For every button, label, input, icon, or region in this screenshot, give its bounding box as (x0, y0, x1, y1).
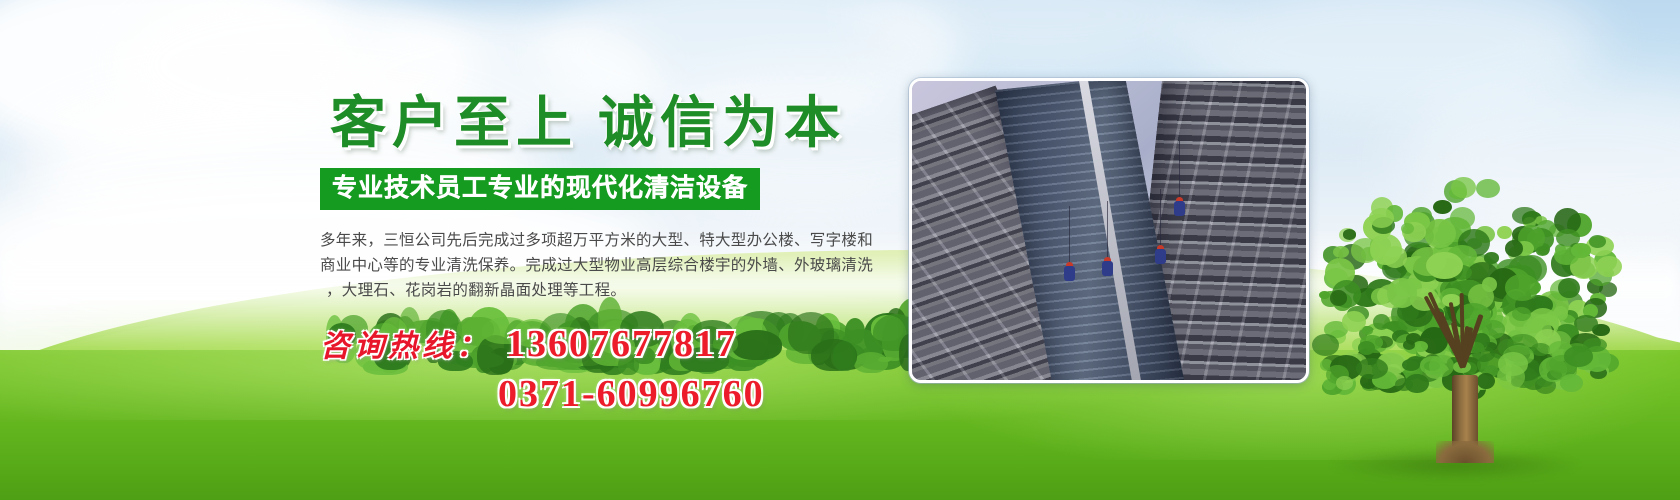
tree-canopy-blob (1402, 359, 1420, 371)
worker-body (1064, 266, 1075, 281)
tree-canopy-blob (1358, 341, 1375, 354)
rope-line (1107, 201, 1108, 261)
tree-canopy-blob (1333, 246, 1349, 258)
tree-canopy-blob (1451, 177, 1475, 198)
tree-canopy-blob (1564, 346, 1593, 366)
tree-canopy-blob (1476, 179, 1500, 198)
description-line-3: ，大理石、花岗岩的翻新晶面处理等工程。 (320, 278, 892, 303)
tree-canopy-blob (1596, 256, 1622, 277)
tree-canopy-blob (1336, 376, 1353, 390)
tree-trunk (1452, 375, 1478, 463)
tree-canopy-blob (1497, 226, 1512, 239)
worker-body (1174, 201, 1185, 216)
tree-canopy-blob (1558, 278, 1580, 299)
tree-canopy-blob (1505, 274, 1539, 300)
rope-line (1069, 206, 1070, 266)
banner-headline: 客户至上 诚信为本 (320, 96, 900, 152)
window-cleaner-worker (1174, 201, 1185, 216)
tree-canopy-blob (1497, 364, 1525, 390)
tree-canopy-blob (1477, 373, 1495, 390)
tree-canopy-blob (1343, 229, 1357, 239)
tree-canopy-blob (1426, 252, 1462, 279)
building-photo-frame[interactable] (909, 78, 1309, 383)
tree-canopy-blob (1362, 326, 1373, 335)
window-cleaner-worker (1102, 261, 1113, 276)
banner-description: 多年来，三恒公司先后完成过多项超万平方米的大型、特大型办公楼、写字楼和 商业中心… (320, 228, 892, 303)
tree-canopy-blob (1413, 341, 1428, 352)
window-cleaner-worker (1155, 249, 1166, 264)
rope-line (1179, 141, 1180, 201)
rope-line (1160, 189, 1161, 249)
worker-body (1102, 261, 1113, 276)
hotline-landline-number[interactable]: 0371-60996760 (498, 372, 900, 416)
building-photo (912, 81, 1306, 380)
subtitle-bar: 专业技术员工专业的现代化清洁设备 (320, 168, 760, 210)
tree-canopy-blob (1369, 208, 1394, 228)
tree-canopy-blob (1312, 334, 1339, 357)
hotline-mobile-number[interactable]: 13607677817 (506, 322, 737, 366)
hotline-row: 咨询热线： 13607677817 (320, 321, 900, 366)
tree-canopy-blob (1450, 207, 1475, 229)
tree-canopy-blob (1536, 246, 1549, 255)
tree-canopy-blob (1512, 207, 1537, 225)
hotline-label: 咨询热线： (320, 321, 490, 365)
description-line-1: 多年来，三恒公司先后完成过多项超万平方米的大型、特大型办公楼、写字楼和 (320, 228, 892, 253)
tree-canopy-blob (1370, 234, 1402, 265)
tree-illustration (1300, 175, 1630, 465)
subtitle-text: 专业技术员工专业的现代化清洁设备 (332, 175, 748, 201)
tree-canopy-blob (1560, 374, 1583, 392)
window-cleaner-worker (1064, 266, 1075, 281)
tree-canopy-blob (1484, 252, 1500, 264)
tree-canopy-blob (1429, 355, 1453, 377)
tree-canopy-blob (1387, 278, 1418, 308)
description-line-2: 商业中心等的专业清洗保养。完成过大型物业高层综合楼宇的外墙、外玻璃清洗 (320, 253, 892, 278)
tree-canopy-blob (1554, 246, 1578, 265)
tree-canopy-blob (1330, 290, 1347, 305)
worker-body (1155, 249, 1166, 264)
banner-text-block: 客户至上 诚信为本 专业技术员工专业的现代化清洁设备 多年来，三恒公司先后完成过… (320, 96, 900, 416)
tree-canopy-blob (1433, 200, 1452, 214)
promotional-banner: 客户至上 诚信为本 专业技术员工专业的现代化清洁设备 多年来，三恒公司先后完成过… (0, 0, 1680, 500)
tree-canopy-blob (1505, 240, 1523, 257)
